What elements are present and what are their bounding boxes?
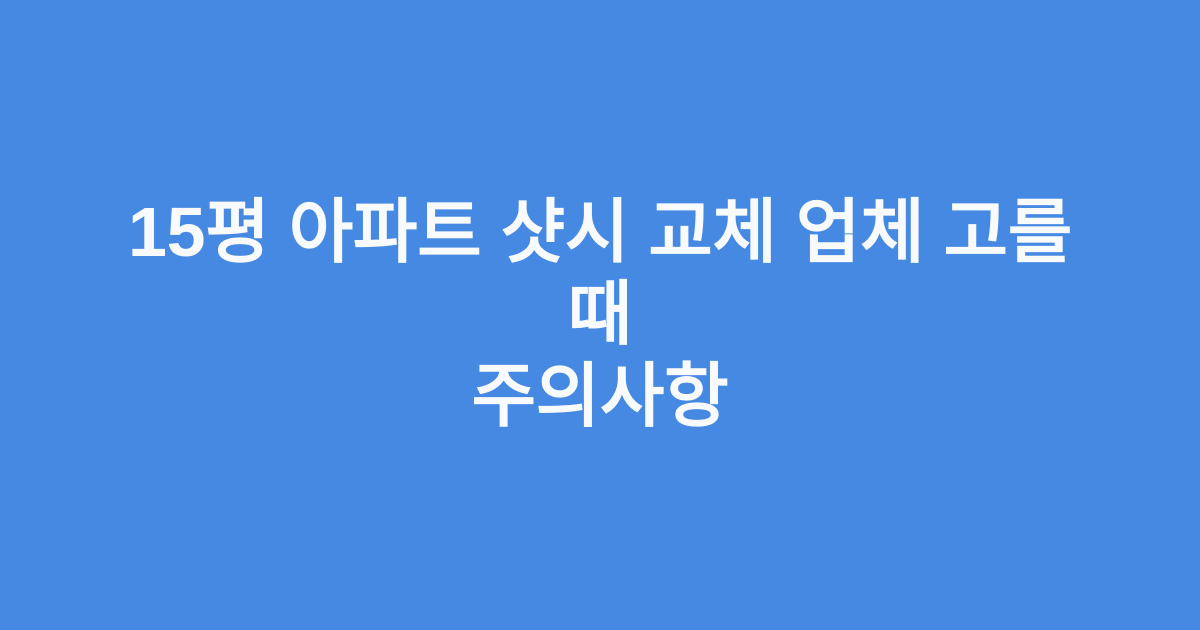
thumbnail-card: 15평 아파트 샷시 교체 업체 고를 때 주의사항 <box>0 0 1200 630</box>
title-block: 15평 아파트 샷시 교체 업체 고를 때 주의사항 <box>0 192 1200 438</box>
page-title: 15평 아파트 샷시 교체 업체 고를 때 주의사항 <box>96 192 1104 438</box>
